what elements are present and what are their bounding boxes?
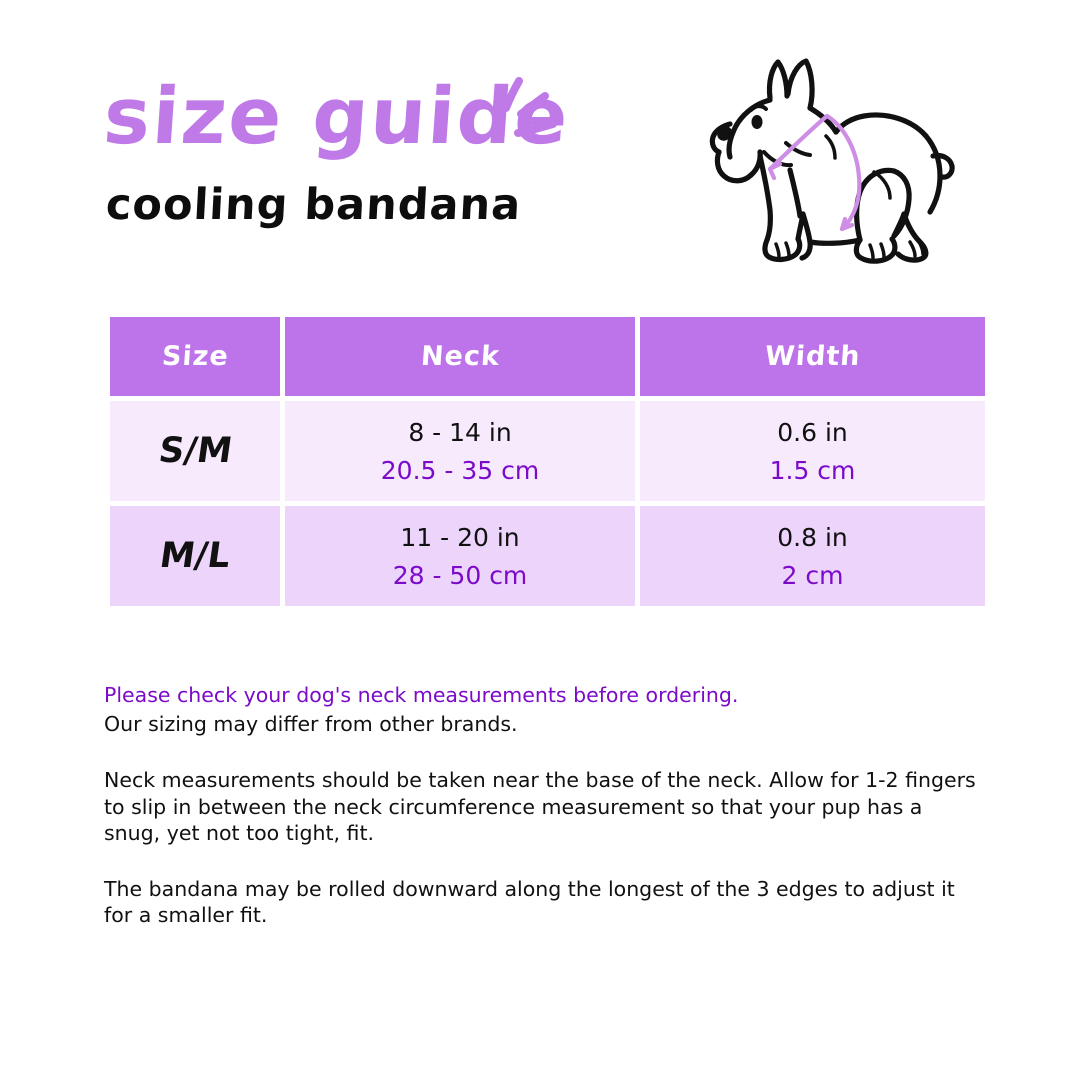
- page-title: size guide: [101, 78, 572, 156]
- header-block: size guide cooling bandana: [104, 78, 624, 227]
- cell-size: M/L: [110, 506, 280, 606]
- note-secondary: Our sizing may differ from other brands.: [104, 711, 976, 737]
- cell-neck: 11 - 20 in 28 - 50 cm: [285, 506, 635, 606]
- width-inches: 0.6 in: [777, 418, 848, 447]
- table-header-row: Size Neck Width: [110, 317, 985, 396]
- column-header-width-label: Width: [764, 341, 862, 372]
- size-guide-page: size guide cooling bandana: [0, 0, 1080, 1080]
- size-label: M/L: [157, 536, 233, 576]
- width-inches: 0.8 in: [777, 523, 848, 552]
- page-subtitle: cooling bandana: [105, 184, 523, 227]
- column-header-neck-label: Neck: [419, 341, 500, 372]
- notes-section: Please check your dog's neck measurement…: [104, 682, 976, 929]
- cell-neck: 8 - 14 in 20.5 - 35 cm: [285, 401, 635, 501]
- column-header-size-label: Size: [161, 341, 230, 372]
- note-paragraph-rolling: The bandana may be rolled downward along…: [104, 876, 976, 928]
- table-row: M/L 11 - 20 in 28 - 50 cm 0.8 in 2 cm: [110, 506, 985, 606]
- width-centimeters: 1.5 cm: [770, 456, 856, 485]
- title-row: size guide: [104, 78, 624, 156]
- neck-centimeters: 28 - 50 cm: [393, 561, 528, 590]
- measurement-group: 0.6 in 1.5 cm: [640, 418, 985, 485]
- cell-size: S/M: [110, 401, 280, 501]
- size-label: S/M: [156, 431, 234, 471]
- table-row: S/M 8 - 14 in 20.5 - 35 cm 0.6 in 1.5 cm: [110, 401, 985, 501]
- neck-measurement-loop: [770, 116, 859, 229]
- column-header-width: Width: [640, 317, 985, 396]
- neck-inches: 11 - 20 in: [400, 523, 519, 552]
- french-bulldog-icon: [702, 44, 964, 276]
- note-highlight: Please check your dog's neck measurement…: [104, 682, 976, 708]
- measurement-group: 8 - 14 in 20.5 - 35 cm: [285, 418, 635, 485]
- cell-width: 0.6 in 1.5 cm: [640, 401, 985, 501]
- neck-inches: 8 - 14 in: [408, 418, 511, 447]
- neck-centimeters: 20.5 - 35 cm: [381, 456, 539, 485]
- size-table: Size Neck Width S/M 8 - 14 in 20.5 - 35 …: [105, 312, 990, 611]
- width-centimeters: 2 cm: [782, 561, 844, 590]
- cell-width: 0.8 in 2 cm: [640, 506, 985, 606]
- column-header-size: Size: [110, 317, 280, 396]
- measurement-group: 0.8 in 2 cm: [640, 523, 985, 590]
- measurement-group: 11 - 20 in 28 - 50 cm: [285, 523, 635, 590]
- column-header-neck: Neck: [285, 317, 635, 396]
- note-paragraph-measuring: Neck measurements should be taken near t…: [104, 767, 976, 846]
